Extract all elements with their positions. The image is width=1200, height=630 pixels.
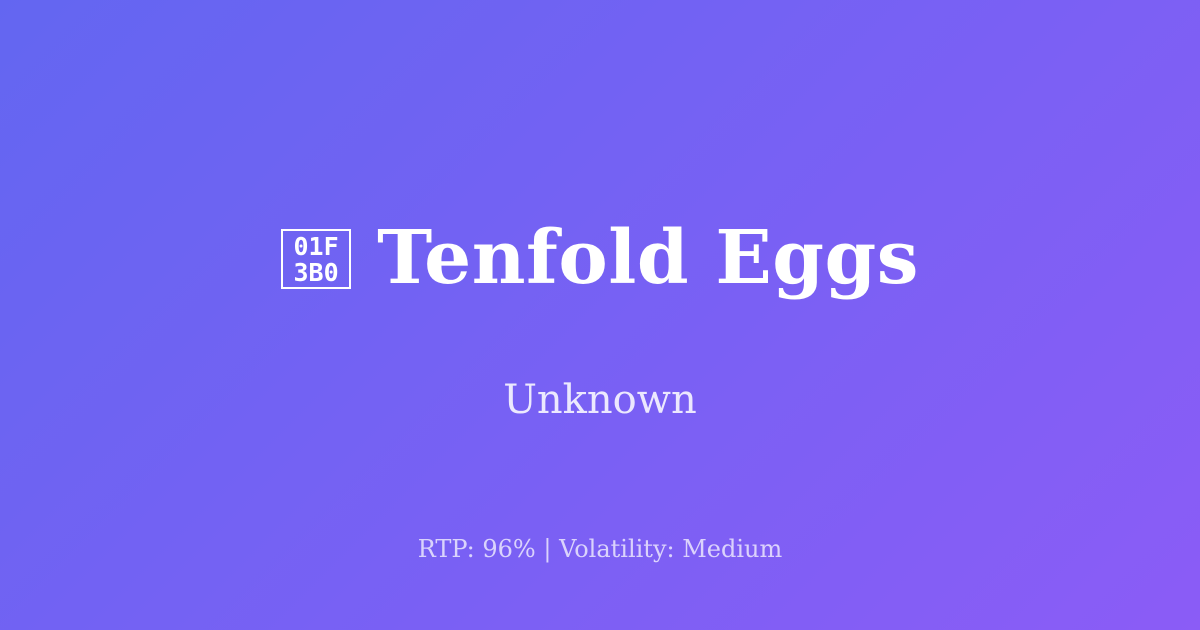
slot-machine-icon: 01F 3B0 (281, 229, 351, 289)
slot-machine-icon-codepoint-bottom: 3B0 (294, 260, 339, 286)
slot-machine-icon-codepoint-top: 01F (294, 234, 339, 260)
provider-subtitle: Unknown (503, 376, 697, 424)
hero-block: 01F 3B0 Tenfold Eggs Unknown (281, 172, 919, 425)
page-title: Tenfold Eggs (377, 221, 919, 296)
title-row: 01F 3B0 Tenfold Eggs (281, 172, 919, 347)
game-stats-line: RTP: 96% | Volatility: Medium (0, 535, 1200, 564)
og-card: 01F 3B0 Tenfold Eggs Unknown RTP: 96% | … (0, 0, 1200, 630)
